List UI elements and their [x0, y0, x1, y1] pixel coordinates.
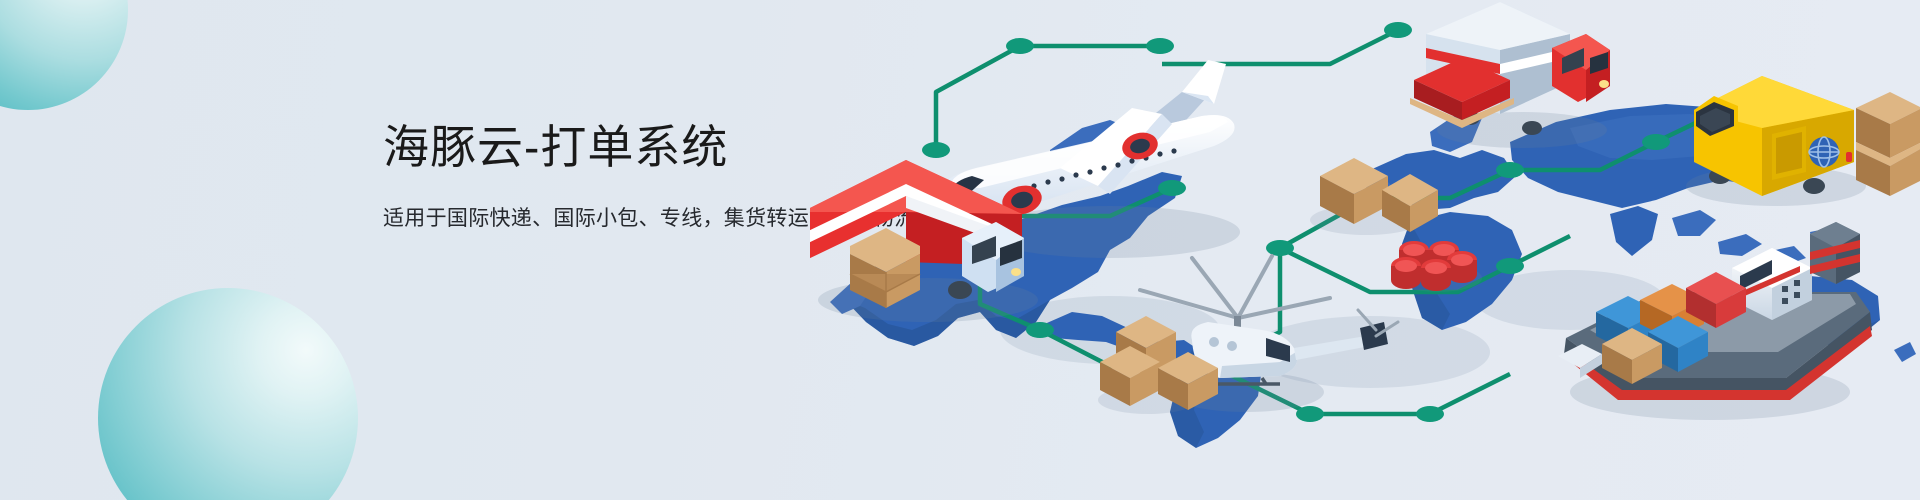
continent-central-america — [1040, 312, 1202, 364]
top-left-circle-decoration — [0, 0, 128, 110]
delivery-van — [1686, 76, 1920, 206]
continent-australia — [1770, 276, 1880, 346]
bottom-left-circle-decoration — [98, 288, 358, 500]
hero-banner: 海豚云-打单系统 适用于国际快递、国际小包、专线，集货转运等跨境物流包裹处理 — [0, 0, 1920, 500]
cardboard-boxes-central — [1098, 316, 1218, 414]
cargo-ship — [1558, 222, 1872, 420]
continent-asia — [1510, 104, 1810, 208]
cardboard-boxes-van — [1856, 92, 1920, 196]
logistics-illustration — [810, 0, 1920, 500]
helicopter — [1140, 256, 1398, 412]
continent-africa — [1402, 212, 1522, 330]
shipping-containers — [1596, 272, 1746, 384]
cardboard-boxes-europe — [1310, 158, 1438, 235]
box-truck — [1410, 2, 1610, 148]
red-pallet-cargo — [1410, 58, 1514, 128]
banner-copy: 海豚云-打单系统 适用于国际快递、国际小包、专线，集货转运等跨境物流包裹处理 — [383, 122, 1143, 233]
continent-europe — [1370, 150, 1516, 210]
page-subtitle: 适用于国际快递、国际小包、专线，集货转运等跨境物流包裹处理 — [383, 205, 1143, 233]
cardboard-boxes-truck — [850, 228, 920, 308]
page-title: 海豚云-打单系统 — [383, 122, 1143, 173]
red-barrels — [1391, 241, 1482, 292]
continent-south-america — [1170, 340, 1262, 448]
